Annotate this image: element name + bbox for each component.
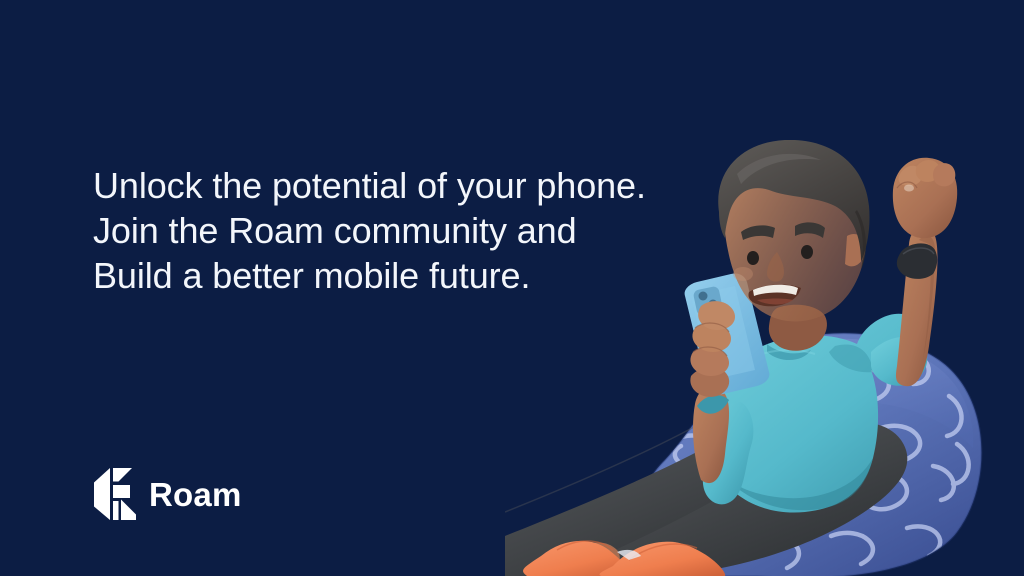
logo-lockup[interactable]: Roam <box>94 468 242 520</box>
headline-line-3: Build a better mobile future. <box>93 253 733 298</box>
headline-line-1: Unlock the potential of your phone. <box>93 163 733 208</box>
promo-banner: Unlock the potential of your phone. Join… <box>0 0 1024 576</box>
right-arm-raised-fist <box>871 158 957 386</box>
headline: Unlock the potential of your phone. Join… <box>93 163 733 298</box>
logo-wordmark: Roam <box>149 478 242 511</box>
headline-line-2: Join the Roam community and <box>93 208 733 253</box>
roam-logo-icon <box>94 468 136 520</box>
